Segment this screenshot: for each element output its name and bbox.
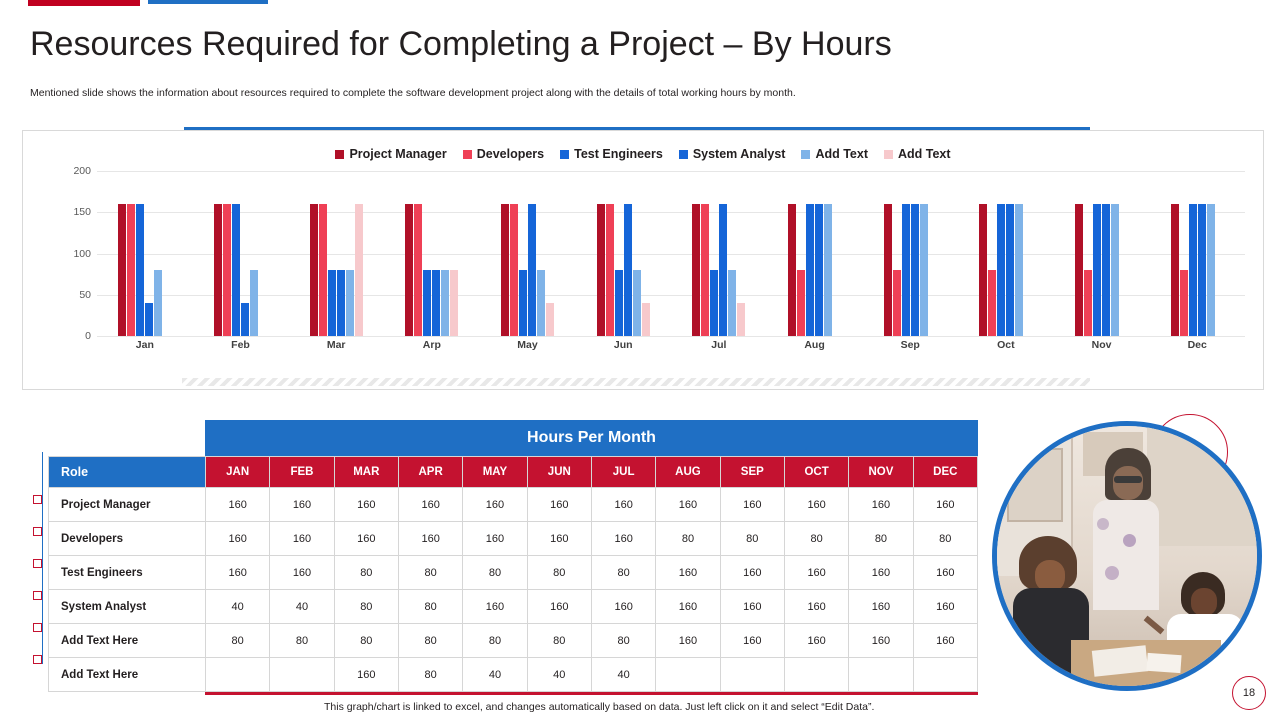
x-tick-label: Feb [193, 339, 289, 351]
chart-plot-area: 050100150200 JanFebMarArpMayJunJulAugSep… [23, 171, 1263, 371]
table-header-row: RoleJANFEBMARAPRMAYJUNJULAUGSEPOCTNOVDEC [49, 457, 978, 488]
legend-swatch-icon [335, 150, 344, 159]
table-cell-value: 80 [913, 522, 977, 556]
table-cell-value [656, 658, 720, 692]
table-cell-value: 160 [398, 522, 462, 556]
table-header-month: JUL [591, 457, 655, 488]
bar [319, 204, 327, 336]
bar [510, 204, 518, 336]
legend-swatch-icon [884, 150, 893, 159]
bar [136, 204, 144, 336]
bar [405, 204, 413, 336]
x-tick-label: Jun [575, 339, 671, 351]
table-cell-value: 80 [334, 590, 398, 624]
table-cell-value: 80 [591, 556, 655, 590]
table-cell-value: 80 [334, 624, 398, 658]
bar [824, 204, 832, 336]
bar [145, 303, 153, 336]
table-cell-value: 160 [270, 488, 334, 522]
table-cell-value: 160 [591, 488, 655, 522]
x-tick-label: Mar [288, 339, 384, 351]
table-cell-value: 160 [720, 590, 784, 624]
top-accent-bar-blue [148, 0, 268, 4]
bar [1189, 204, 1197, 336]
grid-area [97, 171, 1245, 337]
bar [1207, 204, 1215, 336]
page-number: 18 [1232, 676, 1266, 710]
table-header-month: APR [398, 457, 462, 488]
table-title: Hours Per Month [205, 420, 978, 456]
bar [450, 270, 458, 336]
legend-item: Test Engineers [560, 147, 663, 161]
table-cell-value: 160 [656, 624, 720, 658]
table-cell-value: 40 [270, 590, 334, 624]
table-cell-value: 80 [398, 624, 462, 658]
bar-groups [97, 171, 1245, 336]
bar [737, 303, 745, 336]
x-tick-label: Nov [1054, 339, 1150, 351]
legend-item: Add Text [884, 147, 951, 161]
bar [710, 270, 718, 336]
table-cell-value: 80 [463, 624, 527, 658]
table-header-role: Role [49, 457, 206, 488]
bar [1198, 204, 1206, 336]
table-cell-value [913, 658, 977, 692]
table-cell-role: Project Manager [49, 488, 206, 522]
x-tick-label: May [480, 339, 576, 351]
bar-group [767, 171, 863, 336]
top-accent-bar-red [28, 0, 140, 6]
table-cell-value: 160 [656, 556, 720, 590]
table-cell-value: 160 [527, 488, 591, 522]
table-body: Project Manager1601601601601601601601601… [49, 488, 978, 692]
bar [519, 270, 527, 336]
bar-group [97, 171, 193, 336]
table-cell-value: 160 [206, 522, 270, 556]
table-cell-value: 80 [398, 590, 462, 624]
bar [1111, 204, 1119, 336]
table-cell-value: 160 [849, 488, 913, 522]
table-cell-value: 80 [656, 522, 720, 556]
table-cell-value [720, 658, 784, 692]
table-row: Test Engineers16016080808080801601601601… [49, 556, 978, 590]
bar [979, 204, 987, 336]
table-header-month: JAN [206, 457, 270, 488]
bar [232, 204, 240, 336]
table-row: Project Manager1601601601601601601601601… [49, 488, 978, 522]
row-bullet [33, 655, 42, 664]
table-cell-value: 80 [398, 658, 462, 692]
table-row: Add Text Here808080808080801601601601601… [49, 624, 978, 658]
bar [546, 303, 554, 336]
legend-label: Developers [477, 147, 544, 161]
row-bullet [33, 623, 42, 632]
bar [337, 270, 345, 336]
table-cell-value: 80 [849, 522, 913, 556]
table-cell-value: 160 [656, 590, 720, 624]
legend-label: Add Text [898, 147, 951, 161]
table-header-month: NOV [849, 457, 913, 488]
legend-label: Add Text [815, 147, 868, 161]
table-cell-value: 40 [463, 658, 527, 692]
bar [1102, 204, 1110, 336]
legend-swatch-icon [463, 150, 472, 159]
bar-group [480, 171, 576, 336]
table-cell-value: 80 [527, 556, 591, 590]
table-cell-value: 160 [913, 590, 977, 624]
table-header-month: SEP [720, 457, 784, 488]
table-cell-role: Add Text Here [49, 624, 206, 658]
table-cell-role: System Analyst [49, 590, 206, 624]
table-row: Add Text Here16080404040 [49, 658, 978, 692]
bar [893, 270, 901, 336]
bar [597, 204, 605, 336]
row-bullet [33, 559, 42, 568]
legend-swatch-icon [560, 150, 569, 159]
bar [432, 270, 440, 336]
legend-item: Developers [463, 147, 544, 161]
table-cell-value: 80 [591, 624, 655, 658]
chart-panel: Project ManagerDevelopersTest EngineersS… [22, 130, 1264, 390]
x-tick-label: Dec [1149, 339, 1245, 351]
table-cell-value: 160 [656, 488, 720, 522]
row-bullet [33, 495, 42, 504]
table-cell-value: 160 [334, 488, 398, 522]
table-header-month: FEB [270, 457, 334, 488]
table-header-month: DEC [913, 457, 977, 488]
table-header-month: AUG [656, 457, 720, 488]
bar [223, 204, 231, 336]
bar-group [958, 171, 1054, 336]
x-tick-label: Sep [862, 339, 958, 351]
table-cell-value: 160 [463, 590, 527, 624]
table-cell-value [270, 658, 334, 692]
table-cell-value: 160 [527, 522, 591, 556]
bar [701, 204, 709, 336]
bar-group [288, 171, 384, 336]
bar [624, 204, 632, 336]
y-axis: 050100150200 [57, 171, 91, 336]
bar [537, 270, 545, 336]
bar [884, 204, 892, 336]
x-tick-label: Oct [958, 339, 1054, 351]
page-subtitle: Mentioned slide shows the information ab… [30, 87, 796, 99]
table-cell-role: Add Text Here [49, 658, 206, 692]
legend-label: Test Engineers [574, 147, 663, 161]
row-bullet [33, 527, 42, 536]
table-cell-value: 160 [527, 590, 591, 624]
bar [1006, 204, 1014, 336]
decorative-zigzag [182, 378, 1090, 386]
x-tick-label: Jan [97, 339, 193, 351]
y-tick-label: 50 [57, 289, 91, 301]
x-tick-label: Arp [384, 339, 480, 351]
table-cell-value: 80 [463, 556, 527, 590]
bar-group [575, 171, 671, 336]
bar [528, 204, 536, 336]
hours-table-wrap: Hours Per Month RoleJANFEBMARAPRMAYJUNJU… [48, 420, 978, 695]
table-cell-value: 160 [913, 624, 977, 658]
table-cell-value: 80 [720, 522, 784, 556]
table-left-rail [42, 452, 43, 664]
table-row: Developers160160160160160160160808080808… [49, 522, 978, 556]
bar [328, 270, 336, 336]
table-cell-value: 160 [913, 488, 977, 522]
table-cell-value: 160 [913, 556, 977, 590]
bar [815, 204, 823, 336]
gridline [97, 336, 1245, 337]
table-cell-value: 160 [784, 488, 848, 522]
table-cell-value: 40 [527, 658, 591, 692]
legend-item: Add Text [801, 147, 868, 161]
bar [346, 270, 354, 336]
table-cell-value: 40 [591, 658, 655, 692]
bar [414, 204, 422, 336]
bar [214, 204, 222, 336]
y-tick-label: 0 [57, 330, 91, 342]
table-cell-value: 80 [527, 624, 591, 658]
bar [728, 270, 736, 336]
table-cell-value: 160 [720, 488, 784, 522]
photo-inner [997, 426, 1257, 686]
row-bullet [33, 591, 42, 600]
bar-group [193, 171, 289, 336]
legend-label: Project Manager [349, 147, 446, 161]
bar [642, 303, 650, 336]
table-bottom-accent [205, 692, 978, 695]
legend-swatch-icon [801, 150, 810, 159]
table-cell-value: 80 [270, 624, 334, 658]
bar [1075, 204, 1083, 336]
bar [606, 204, 614, 336]
table-header-month: OCT [784, 457, 848, 488]
table-cell-value: 160 [463, 488, 527, 522]
bar [911, 204, 919, 336]
bar [501, 204, 509, 336]
table-cell-value: 160 [591, 590, 655, 624]
table-cell-value [206, 658, 270, 692]
chart-legend: Project ManagerDevelopersTest EngineersS… [23, 147, 1263, 161]
table-cell-value: 80 [784, 522, 848, 556]
table-cell-value: 160 [784, 590, 848, 624]
bar [1084, 270, 1092, 336]
bar [241, 303, 249, 336]
hours-per-month-table: RoleJANFEBMARAPRMAYJUNJULAUGSEPOCTNOVDEC… [48, 456, 978, 692]
table-cell-role: Test Engineers [49, 556, 206, 590]
y-tick-label: 200 [57, 165, 91, 177]
bar [310, 204, 318, 336]
table-row: System Analyst40408080160160160160160160… [49, 590, 978, 624]
table-cell-value: 160 [270, 556, 334, 590]
x-tick-label: Aug [767, 339, 863, 351]
bar [797, 270, 805, 336]
bar [633, 270, 641, 336]
bar-group [384, 171, 480, 336]
legend-label: System Analyst [693, 147, 786, 161]
table-cell-value: 160 [398, 488, 462, 522]
table-cell-value: 160 [270, 522, 334, 556]
bar [988, 270, 996, 336]
table-cell-value: 160 [334, 658, 398, 692]
bar-group [862, 171, 958, 336]
table-cell-value: 160 [206, 556, 270, 590]
table-cell-value: 160 [784, 556, 848, 590]
bar-group [1149, 171, 1245, 336]
table-cell-value: 160 [334, 522, 398, 556]
table-cell-role: Developers [49, 522, 206, 556]
bar [1171, 204, 1179, 336]
table-cell-value: 160 [849, 556, 913, 590]
bar [1180, 270, 1188, 336]
y-tick-label: 100 [57, 248, 91, 260]
bar [118, 204, 126, 336]
table-cell-value: 80 [206, 624, 270, 658]
table-header-month: MAY [463, 457, 527, 488]
bar [127, 204, 135, 336]
table-cell-value [849, 658, 913, 692]
bar-group [1054, 171, 1150, 336]
table-cell-value: 160 [463, 522, 527, 556]
table-cell-value: 160 [720, 556, 784, 590]
table-cell-value: 160 [206, 488, 270, 522]
team-photo [992, 421, 1262, 691]
table-cell-value: 80 [398, 556, 462, 590]
table-cell-value: 160 [591, 522, 655, 556]
bar-group [671, 171, 767, 336]
x-axis-labels: JanFebMarArpMayJunJulAugSepOctNovDec [97, 339, 1245, 351]
bar [250, 270, 258, 336]
bar [1015, 204, 1023, 336]
bar [902, 204, 910, 336]
bar [441, 270, 449, 336]
bar [806, 204, 814, 336]
table-cell-value: 160 [849, 590, 913, 624]
chart-footnote: This graph/chart is linked to excel, and… [324, 701, 874, 713]
legend-item: Project Manager [335, 147, 446, 161]
table-cell-value [784, 658, 848, 692]
bar [615, 270, 623, 336]
table-cell-value: 160 [720, 624, 784, 658]
table-cell-value: 80 [334, 556, 398, 590]
bar [692, 204, 700, 336]
legend-item: System Analyst [679, 147, 786, 161]
bar [997, 204, 1005, 336]
bar [719, 204, 727, 336]
bar [1093, 204, 1101, 336]
y-tick-label: 150 [57, 206, 91, 218]
legend-swatch-icon [679, 150, 688, 159]
table-header-month: JUN [527, 457, 591, 488]
bar [920, 204, 928, 336]
bar [154, 270, 162, 336]
page-title: Resources Required for Completing a Proj… [30, 25, 892, 64]
bar [423, 270, 431, 336]
bar [788, 204, 796, 336]
table-cell-value: 160 [849, 624, 913, 658]
table-cell-value: 40 [206, 590, 270, 624]
table-cell-value: 160 [784, 624, 848, 658]
bar [355, 204, 363, 336]
table-header-month: MAR [334, 457, 398, 488]
x-tick-label: Jul [671, 339, 767, 351]
